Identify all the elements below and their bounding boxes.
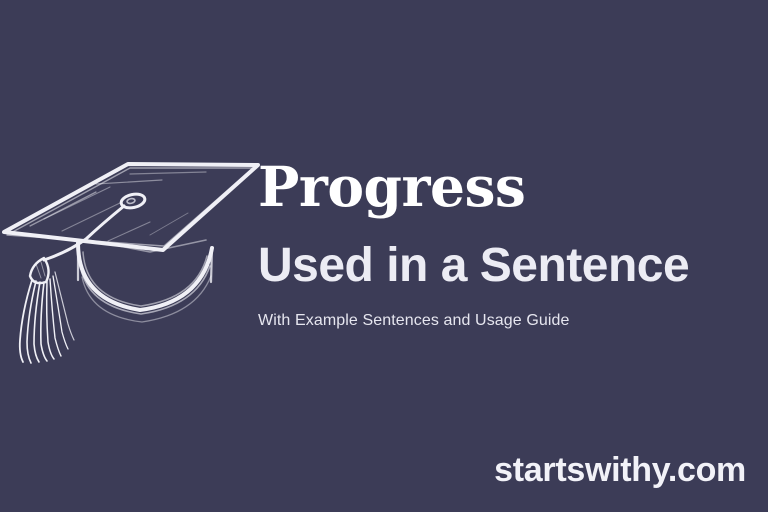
hero-headline: Used in a Sentence <box>258 238 758 294</box>
graduation-cap-icon <box>0 140 272 370</box>
hero-banner: Progress Used in a Sentence With Example… <box>0 0 768 512</box>
hero-text-block: Progress Used in a Sentence With Example… <box>258 158 758 332</box>
hero-subtitle: With Example Sentences and Usage Guide <box>258 310 758 332</box>
hero-keyword: Progress <box>258 158 758 216</box>
site-brand: startswithy.com <box>494 450 746 490</box>
